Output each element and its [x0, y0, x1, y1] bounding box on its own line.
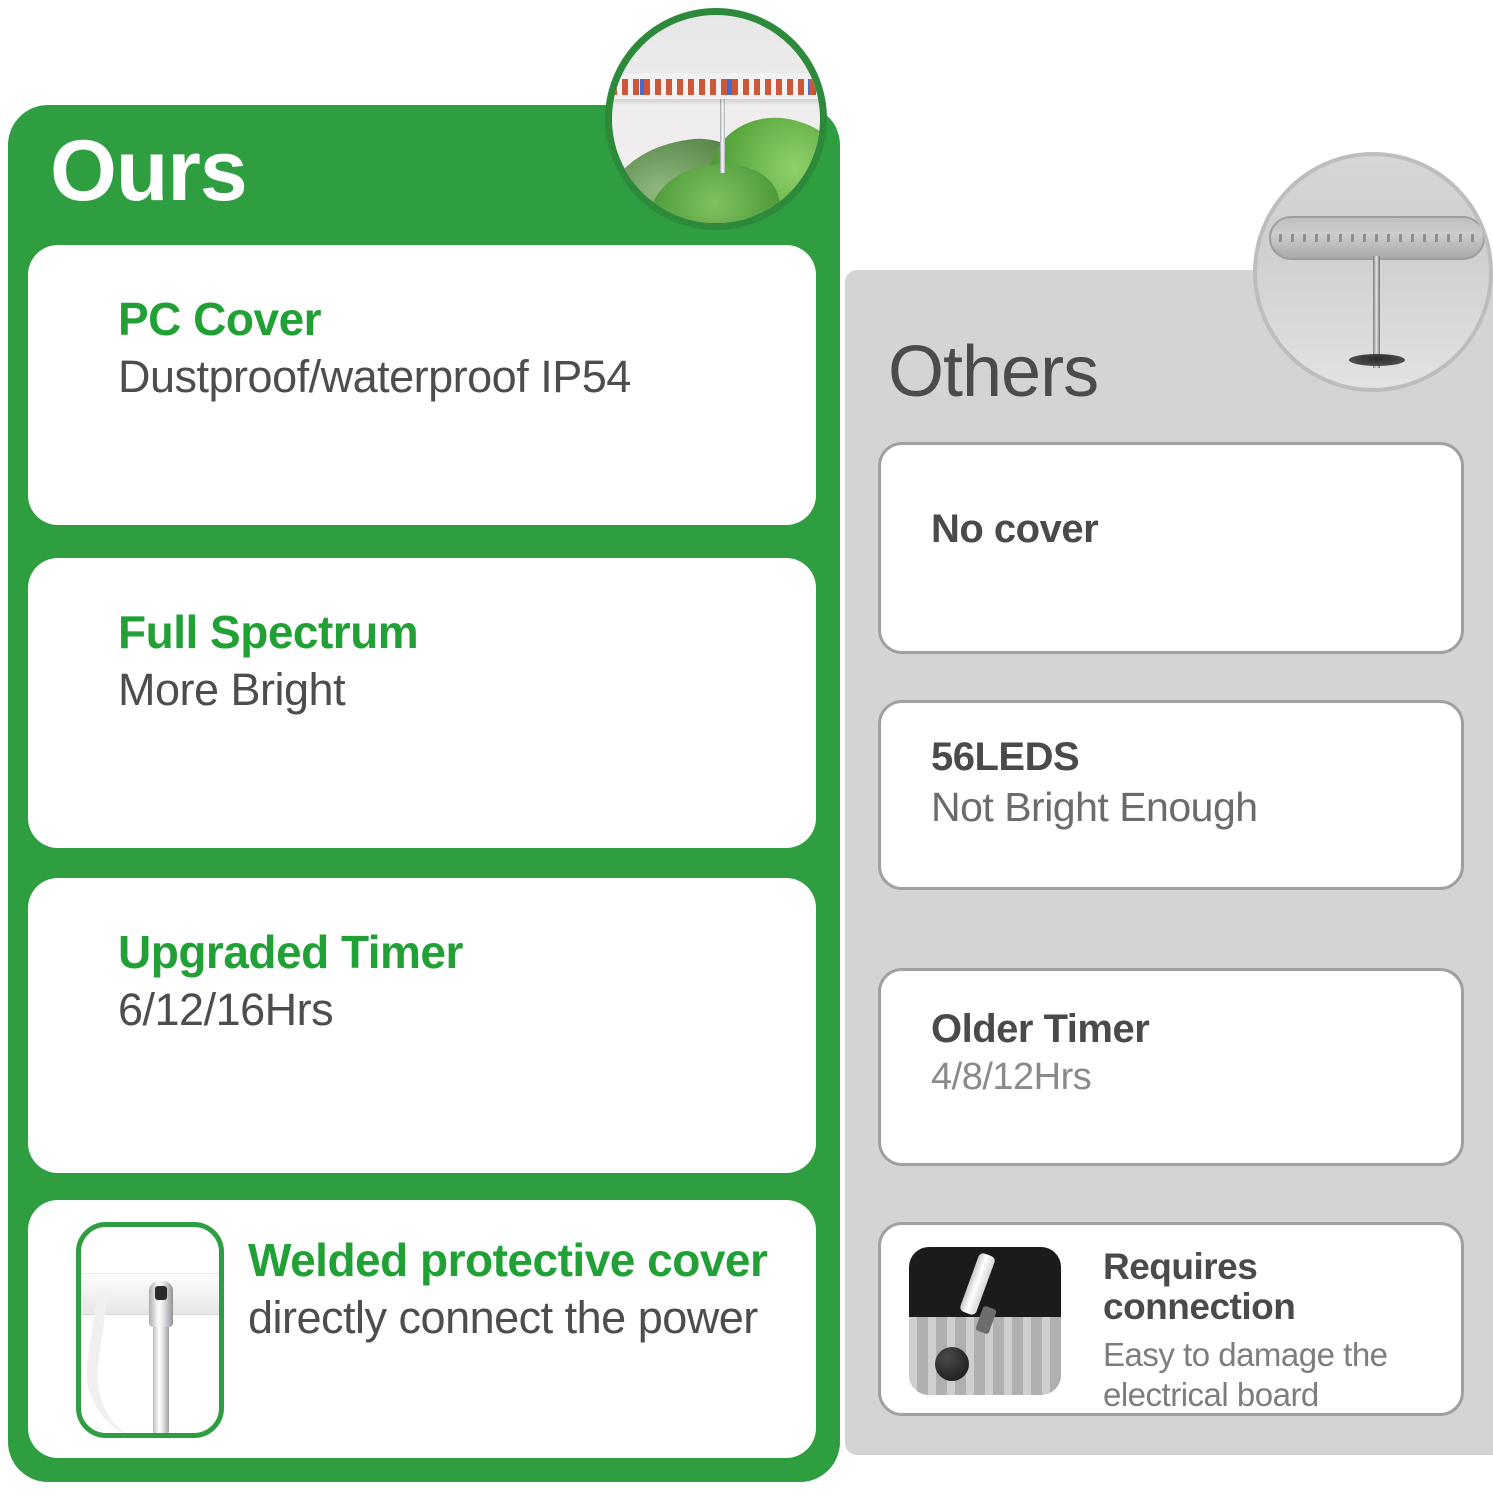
- ours-feature-card: PC Cover Dustproof/waterproof IP54: [28, 245, 816, 525]
- others-card-heading: 56LEDS: [931, 735, 1439, 779]
- others-card-body: Older Timer 4/8/12Hrs: [931, 1007, 1439, 1101]
- others-card-body-text: 4/8/12Hrs: [931, 1055, 1439, 1101]
- connector-collar-shape: [149, 1281, 173, 1327]
- ours-card-body: Full Spectrum More Bright: [118, 608, 788, 716]
- ours-card-heading: Full Spectrum: [118, 608, 788, 657]
- others-title: Others: [888, 336, 1098, 408]
- lamp-base-shape: [1349, 354, 1405, 366]
- ours-card-body: Welded protective cover directly connect…: [248, 1236, 796, 1344]
- ours-card-body-text: 6/12/16Hrs: [118, 983, 788, 1036]
- others-card-heading: No cover: [931, 507, 1439, 551]
- ours-feature-card: Full Spectrum More Bright: [28, 558, 816, 848]
- connector-plug-shape: [959, 1252, 996, 1316]
- ours-card-heading: Upgraded Timer: [118, 928, 788, 977]
- others-hero-circle-image: [1253, 152, 1493, 392]
- others-card-heading: Older Timer: [931, 1007, 1439, 1051]
- ours-feature-card: Upgraded Timer 6/12/16Hrs: [28, 878, 816, 1173]
- lamp-pole-shape: [720, 95, 725, 173]
- ours-title: Ours: [50, 128, 247, 214]
- ours-card-body-text: More Bright: [118, 663, 788, 716]
- knob-shape: [935, 1347, 969, 1381]
- others-card-body-text: Not Bright Enough: [931, 783, 1439, 832]
- ours-card-body: Upgraded Timer 6/12/16Hrs: [118, 928, 788, 1036]
- others-card-body: Requires connection Easy to damage the e…: [1103, 1247, 1439, 1414]
- welded-pole-connector-thumbnail: [76, 1222, 224, 1438]
- led-diodes-shape: [605, 79, 827, 95]
- cable-connector-thumbnail: [909, 1247, 1061, 1395]
- lamp-pole-shape: [1373, 256, 1380, 368]
- ours-card-heading: Welded protective cover: [248, 1236, 796, 1285]
- others-feature-card: Requires connection Easy to damage the e…: [878, 1222, 1464, 1416]
- others-feature-card: 56LEDS Not Bright Enough: [878, 700, 1464, 890]
- others-card-body: 56LEDS Not Bright Enough: [931, 735, 1439, 832]
- ours-card-body-text: Dustproof/waterproof IP54: [118, 350, 788, 403]
- ours-feature-card: Welded protective cover directly connect…: [28, 1200, 816, 1458]
- others-card-body-text: Easy to damage the electrical board: [1103, 1335, 1439, 1414]
- others-card-body: No cover: [931, 507, 1439, 551]
- others-feature-card: No cover: [878, 442, 1464, 654]
- others-card-heading: Requires connection: [1103, 1247, 1439, 1327]
- ours-card-body-text: directly connect the power: [248, 1291, 796, 1344]
- led-diodes-shape: [1279, 234, 1475, 242]
- ours-hero-circle-image: [605, 8, 827, 230]
- others-feature-card: Older Timer 4/8/12Hrs: [878, 968, 1464, 1166]
- ours-card-body: PC Cover Dustproof/waterproof IP54: [118, 295, 788, 403]
- ours-card-heading: PC Cover: [118, 295, 788, 344]
